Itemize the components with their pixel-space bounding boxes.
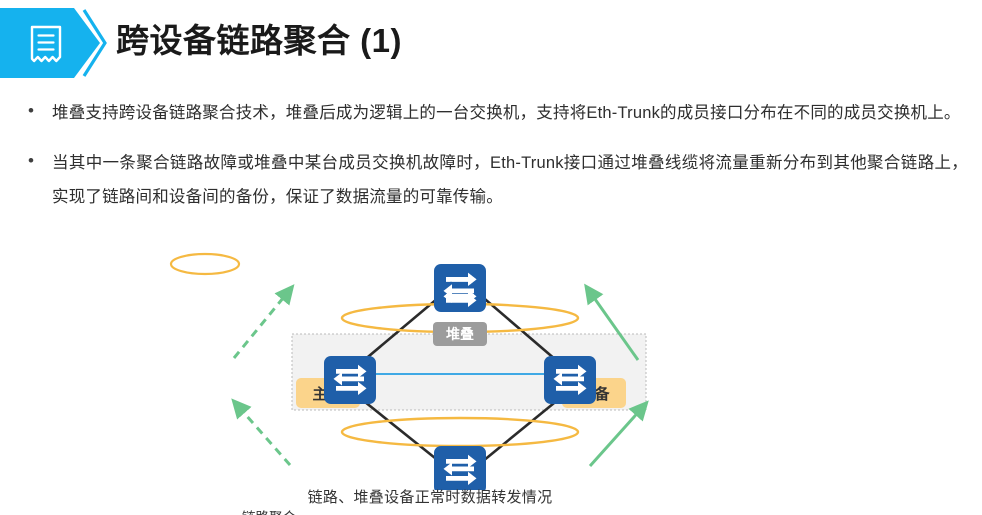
bullet-text: 堆叠支持跨设备链路聚合技术，堆叠后成为逻辑上的一台交换机，支持将Eth-Trun…: [52, 96, 968, 130]
diagram-caption: 链路、堆叠设备正常时数据转发情况: [150, 486, 710, 507]
bullet-item: • 当其中一条聚合链路故障或堆叠中某台成员交换机故障时，Eth-Trunk接口通…: [22, 146, 968, 214]
page-title: 跨设备链路聚合 (1): [116, 16, 402, 66]
bullet-item: • 堆叠支持跨设备链路聚合技术，堆叠后成为逻辑上的一台交换机，支持将Eth-Tr…: [22, 96, 968, 130]
slide-header: 跨设备链路聚合 (1): [0, 8, 982, 80]
badge-backup-label: 备: [593, 385, 610, 403]
aggregation-ellipse-bottom: [342, 418, 578, 446]
bullet-marker: •: [22, 96, 52, 126]
switch-top-glyph: [444, 273, 477, 307]
slide-root: 跨设备链路聚合 (1) • 堆叠支持跨设备链路聚合技术，堆叠后成为逻辑上的一台交…: [0, 0, 982, 515]
bullet-marker: •: [22, 146, 52, 176]
switch-node-bottom[interactable]: [434, 446, 486, 490]
topology-svg: 主 备: [150, 250, 710, 490]
flow-arrow-bottom-right-solid: [590, 408, 642, 466]
switch-node-left[interactable]: [324, 356, 376, 404]
switch-node-right[interactable]: [544, 356, 596, 404]
legend-ellipse-icon: [171, 254, 239, 274]
flow-arrow-top-left-dashed: [234, 292, 288, 358]
bullet-text: 当其中一条聚合链路故障或堆叠中某台成员交换机故障时，Eth-Trunk接口通过堆…: [52, 146, 968, 214]
legend-label: 链路聚合: [242, 506, 296, 515]
document-list-icon: [27, 24, 65, 64]
switch-node-top[interactable]: [434, 264, 486, 312]
bullet-list: • 堆叠支持跨设备链路聚合技术，堆叠后成为逻辑上的一台交换机，支持将Eth-Tr…: [22, 96, 968, 230]
flow-arrow-bottom-left-dashed: [238, 406, 290, 465]
stack-region-label: 堆叠: [433, 322, 487, 346]
stack-region-label-text: 堆叠: [446, 326, 474, 342]
header-chevron-icon: [78, 8, 108, 78]
network-topology-diagram: 主 备: [150, 250, 710, 515]
